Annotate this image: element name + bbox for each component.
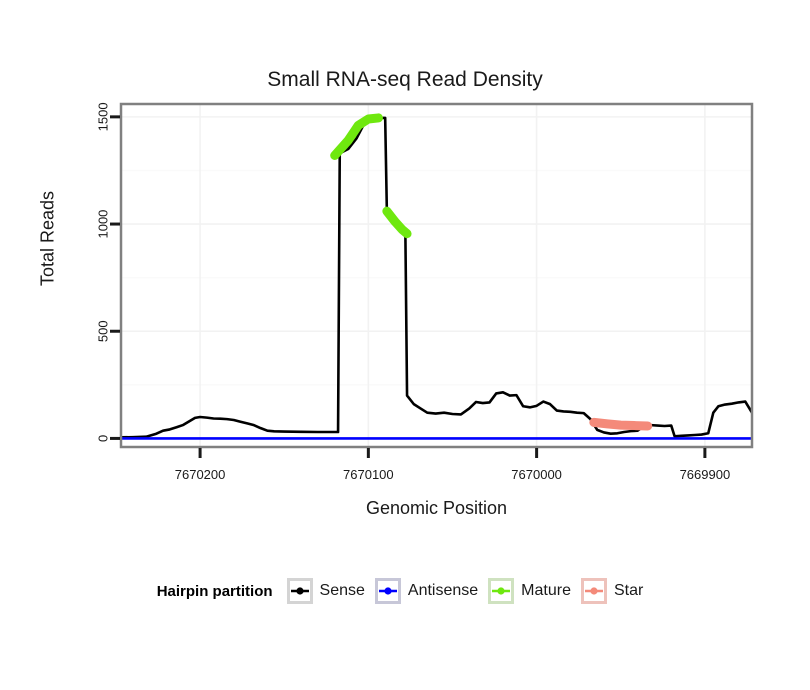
- y-tick-label: 1500: [96, 102, 111, 131]
- chart-legend: Hairpin partition SenseAntisenseMatureSt…: [0, 578, 810, 604]
- legend-label: Sense: [320, 582, 365, 600]
- legend-item-sense[interactable]: Sense: [287, 578, 365, 604]
- y-tick-label: 500: [96, 320, 111, 342]
- legend-key-mature-icon: [488, 578, 514, 604]
- x-axis-label: Genomic Position: [120, 498, 753, 519]
- legend-swatch-icon: [290, 581, 310, 601]
- legend-swatch-icon: [584, 581, 604, 601]
- legend-title: Hairpin partition: [157, 583, 273, 600]
- legend-key-antisense-icon: [375, 578, 401, 604]
- legend-label: Mature: [521, 582, 571, 600]
- legend-key-star-icon: [581, 578, 607, 604]
- x-tick-label: 7670200: [175, 467, 226, 482]
- series-line-star: [594, 422, 648, 426]
- legend-item-antisense[interactable]: Antisense: [375, 578, 478, 604]
- y-tick-label: 1000: [96, 210, 111, 239]
- y-tick-label: 0: [96, 435, 111, 442]
- legend-label: Antisense: [408, 582, 478, 600]
- x-tick-label: 7670000: [511, 467, 562, 482]
- legend-label: Star: [614, 582, 643, 600]
- legend-item-mature[interactable]: Mature: [488, 578, 571, 604]
- x-tick-label: 7669900: [680, 467, 731, 482]
- legend-key-sense-icon: [287, 578, 313, 604]
- legend-swatch-icon: [378, 581, 398, 601]
- chart-figure: Small RNA-seq Read Density Total Reads 7…: [0, 0, 810, 690]
- legend-item-star[interactable]: Star: [581, 578, 643, 604]
- plot-panel-background: [121, 104, 752, 447]
- x-axis: 7670200767010076700007669900: [175, 448, 730, 482]
- y-axis: 050010001500: [96, 102, 121, 442]
- legend-swatch-icon: [491, 581, 511, 601]
- x-tick-label: 7670100: [343, 467, 394, 482]
